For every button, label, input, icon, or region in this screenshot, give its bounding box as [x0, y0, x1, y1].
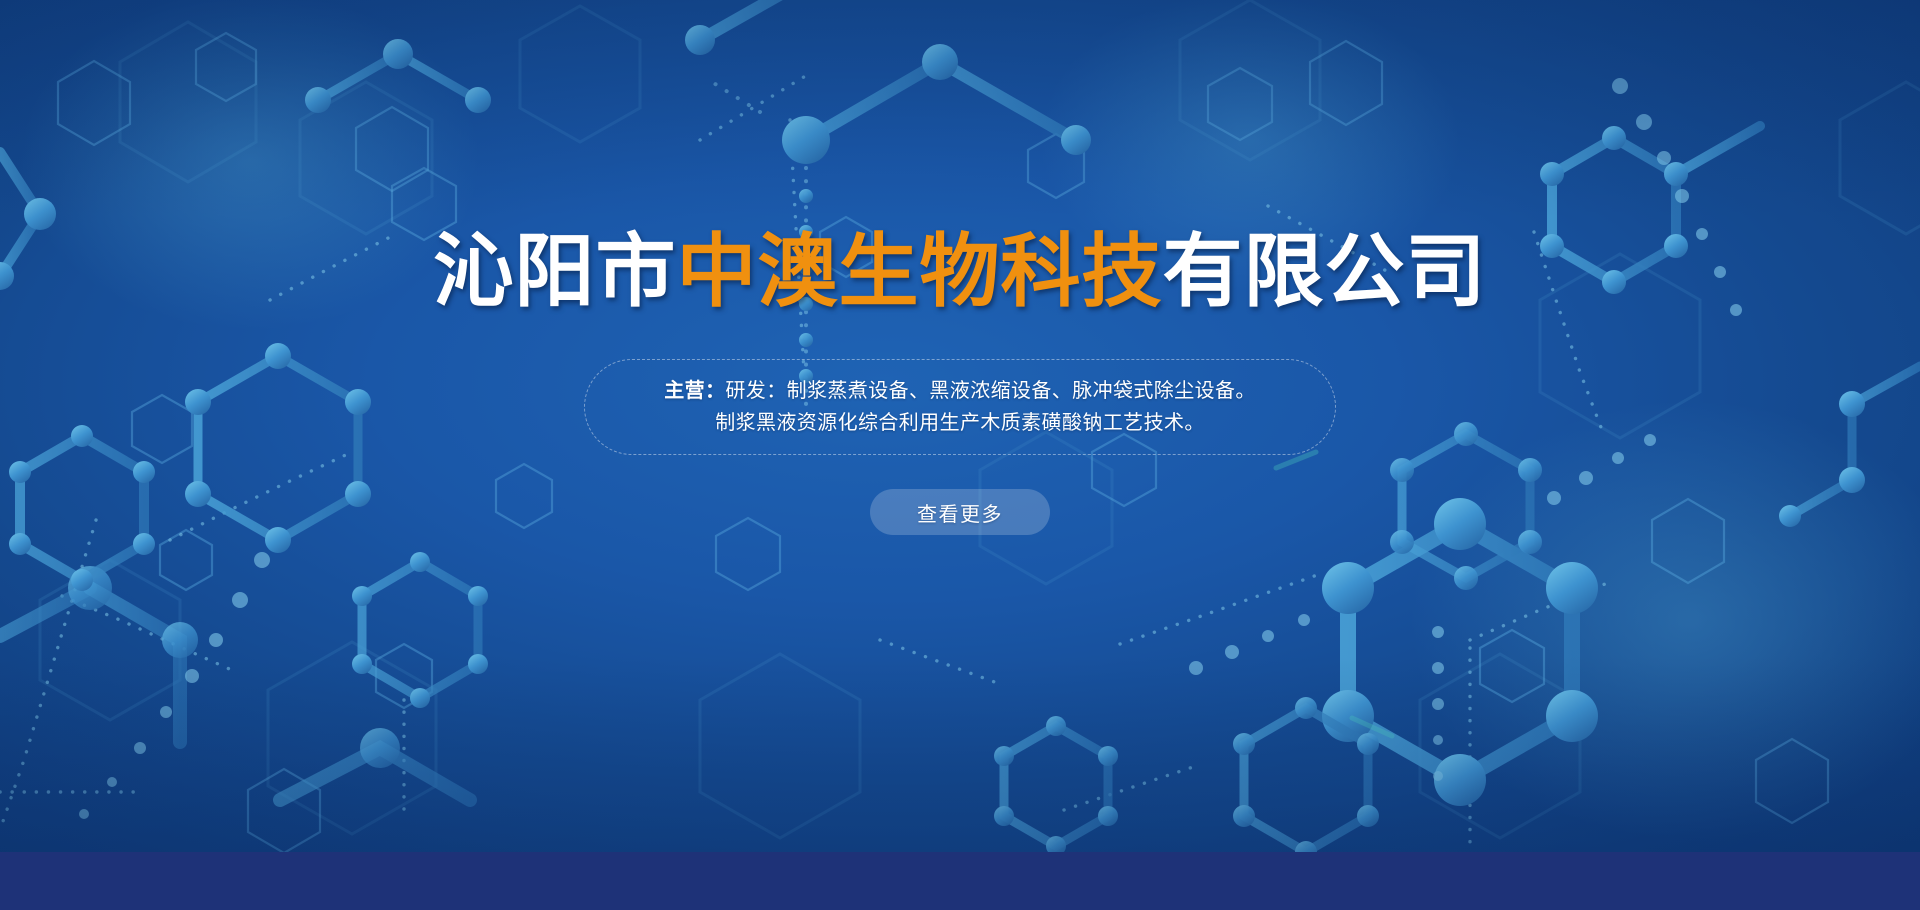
bottom-bar — [0, 852, 1920, 910]
title-suffix: 有限公司 — [1163, 227, 1487, 316]
subtitle-line-2: 制浆黑液资源化综合利用生产木质素磺酸钠工艺技术。 — [715, 411, 1205, 436]
title-accent: 中澳生物科技 — [677, 227, 1163, 316]
page-title: 沁阳市中澳生物科技有限公司 — [0, 232, 1920, 312]
subtitle-lead: 主营： — [664, 380, 725, 402]
subtitle-line-1: 主营：研发：制浆蒸煮设备、黑液浓缩设备、脉冲袋式除尘设备。 — [664, 379, 1256, 404]
hero-content: 沁阳市中澳生物科技有限公司 主营：研发：制浆蒸煮设备、黑液浓缩设备、脉冲袋式除尘… — [0, 0, 1920, 852]
title-prefix: 沁阳市 — [434, 227, 677, 316]
view-more-button[interactable]: 查看更多 — [870, 489, 1050, 535]
hero-banner: 沁阳市中澳生物科技有限公司 主营：研发：制浆蒸煮设备、黑液浓缩设备、脉冲袋式除尘… — [0, 0, 1920, 910]
subtitle-panel: 主营：研发：制浆蒸煮设备、黑液浓缩设备、脉冲袋式除尘设备。 制浆黑液资源化综合利… — [584, 359, 1336, 455]
subtitle-line-1-text: 研发：制浆蒸煮设备、黑液浓缩设备、脉冲袋式除尘设备。 — [725, 380, 1255, 402]
